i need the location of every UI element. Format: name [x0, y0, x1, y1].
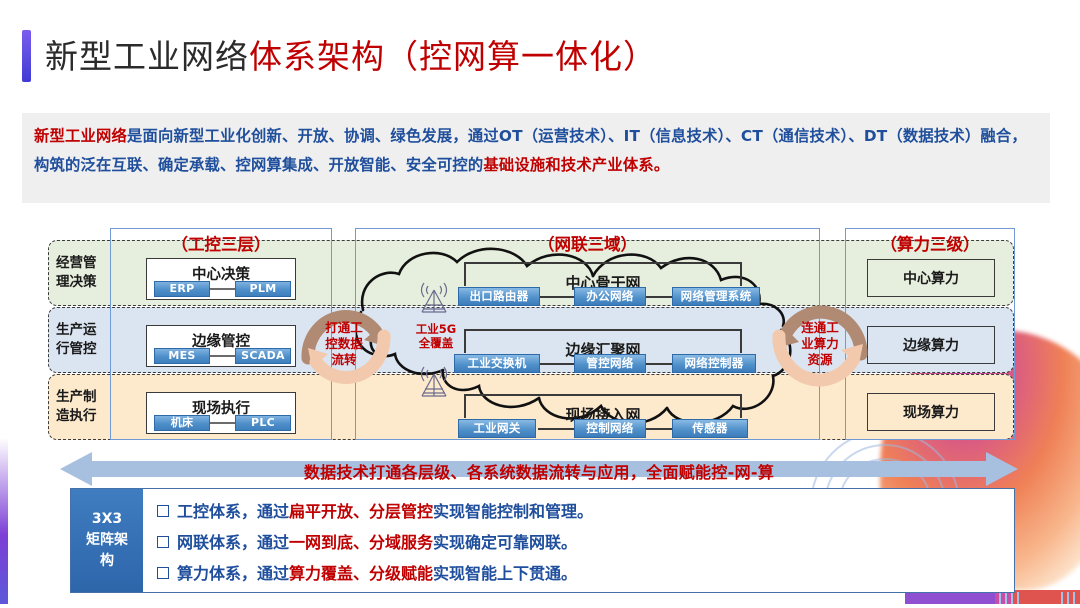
ic-chip-erp: ERP — [154, 281, 210, 297]
ic-chip-plc: PLC — [235, 415, 291, 431]
compute-box-center: 中心算力 — [867, 259, 995, 297]
description-box: 新型工业网络是面向新型工业化创新、开放、协调、绿色发展，通过OT（运营技术）、I… — [22, 113, 1050, 203]
banner-text: 数据技术打通各层级、各系统数据流转与应用，全面赋能控-网-算 — [60, 459, 1018, 483]
row-label-execution: 生产制造执行 — [56, 388, 118, 426]
column-title-network-domains: （网联三域） — [356, 231, 819, 255]
ic-chip-plm: PLM — [235, 281, 291, 297]
ic-box-field-execution: 现场执行 机床 PLC — [146, 392, 296, 434]
net-group-edge-aggregation: 边缘汇聚网 工业交换机 管控网络 网络控制器 — [464, 329, 742, 373]
antenna-tower-icon-top — [414, 278, 454, 316]
column-title-industrial-control: （工控三层） — [111, 231, 331, 255]
net-chip-industrial-gateway: 工业网关 — [458, 419, 536, 438]
description-tail-red-2: 技术产业体系。 — [561, 156, 669, 174]
ic-box-edge-control: 边缘管控 MES SCADA — [146, 325, 296, 367]
antenna-tower-icon-bottom — [414, 362, 454, 400]
bullet-text-2: 网联体系，通过一网到底、分域服务实现确定可靠网联。 — [177, 527, 577, 558]
description-text: 新型工业网络是面向新型工业化创新、开放、协调、绿色发展，通过OT（运营技术）、I… — [34, 122, 1038, 180]
left-arrow-label: 打通工控数据流转 — [313, 320, 375, 368]
bullet-square-icon — [157, 536, 169, 548]
decorative-left-edge-bar — [0, 0, 8, 608]
net-chip-control-mgmt-network: 管控网络 — [574, 354, 646, 373]
bullet-square-icon — [157, 567, 169, 579]
net-chip-network-management-system: 网络管理系统 — [672, 287, 760, 306]
matrix-architecture-tag: 3X3矩阵架构 — [71, 489, 143, 592]
summary-panel: 3X3矩阵架构 工控体系，通过扁平开放、分层管控实现智能控制和管理。 网联体系，… — [70, 488, 1015, 593]
description-body-1: 是面向新型工业化创新、开放、协调、绿色发展，通过OT（运营技术）、IT（信息技术… — [127, 127, 794, 145]
right-arrow-label: 连通工业算力资源 — [789, 320, 851, 368]
compute-box-edge: 边缘算力 — [867, 326, 995, 364]
ic-chip-scada: SCADA — [235, 348, 291, 364]
data-flow-banner: 数据技术打通各层级、各系统数据流转与应用，全面赋能控-网-算 — [60, 450, 1018, 488]
net-chip-control-network: 控制网络 — [574, 419, 646, 438]
ic-box-center-decision: 中心决策 ERP PLM — [146, 258, 296, 300]
bullet-text-3: 算力体系，通过算力覆盖、分级赋能实现智能上下贯通。 — [177, 558, 577, 589]
page-title-plain: 新型工业网络 — [45, 37, 249, 76]
net-chip-network-controller: 网络控制器 — [672, 354, 756, 373]
page-title-highlight: 体系架构（控网算一体化） — [249, 37, 657, 76]
description-lead-red: 新型工业网络 — [34, 127, 127, 145]
bullet-text-1: 工控体系，通过扁平开放、分层管控实现智能控制和管理。 — [177, 496, 593, 527]
net-chip-egress-router: 出口路由器 — [458, 287, 540, 306]
net-chip-industrial-switch: 工业交换机 — [454, 354, 540, 373]
net-chip-office-network: 办公网络 — [574, 287, 646, 306]
page-title: 新型工业网络体系架构（控网算一体化） — [45, 40, 657, 73]
page-title-row: 新型工业网络体系架构（控网算一体化） — [22, 30, 657, 82]
wireless-5g-label: 工业5G全覆盖 — [405, 322, 467, 350]
summary-bullet-list: 工控体系，通过扁平开放、分层管控实现智能控制和管理。 网联体系，通过一网到底、分… — [157, 496, 1004, 589]
title-accent-bar — [22, 30, 31, 82]
net-chip-sensor: 传感器 — [672, 419, 748, 438]
list-item: 算力体系，通过算力覆盖、分级赋能实现智能上下贯通。 — [157, 558, 1004, 589]
list-item: 工控体系，通过扁平开放、分层管控实现智能控制和管理。 — [157, 496, 1004, 527]
row-label-operations: 生产运行管控 — [56, 321, 118, 359]
column-title-computing-tiers: （算力三级） — [846, 231, 1014, 255]
compute-box-field: 现场算力 — [867, 393, 995, 431]
ic-chip-machine-tool: 机床 — [154, 415, 210, 431]
net-group-field-access: 现场接入网 工业网关 控制网络 传感器 — [464, 394, 742, 438]
ic-chip-mes: MES — [154, 348, 210, 364]
list-item: 网联体系，通过一网到底、分域服务实现确定可靠网联。 — [157, 527, 1004, 558]
bullet-square-icon — [157, 505, 169, 517]
description-tail-red-1: 基础设施和 — [483, 156, 561, 174]
net-group-backbone: 中心骨干网 出口路由器 办公网络 网络管理系统 — [464, 262, 742, 306]
row-label-management: 经营管理决策 — [56, 254, 118, 292]
